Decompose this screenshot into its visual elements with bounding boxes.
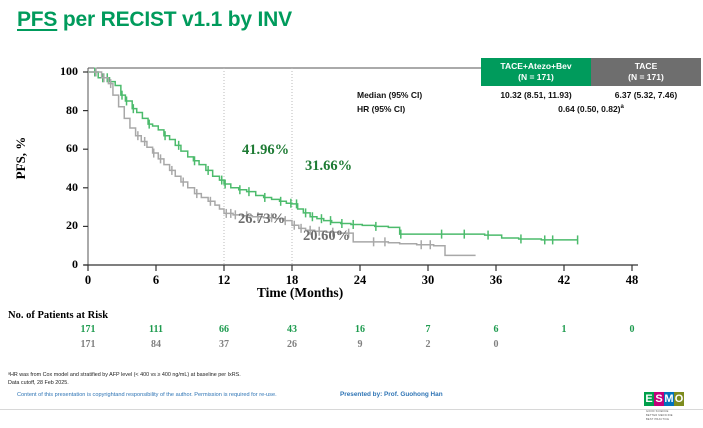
risk-table-title: No. of Patients at Risk [8,310,108,321]
risk-count: 43 [272,324,312,335]
stats-row-hr: HR (95% CI) 0.64 (0.50, 0.82)a [357,104,701,114]
stats-header-treatment-n: (N = 171) [481,72,591,83]
curve-annotation: 20.60% [303,228,350,245]
risk-table-row-treatment: 1711116643167610 [0,324,703,338]
risk-count: 171 [68,339,108,350]
esmo-logo-letter: E [644,392,654,406]
risk-table-row-control: 171843726920 [0,339,703,353]
curve-annotation: 31.66% [305,158,352,175]
esmo-logo-letter: M [664,392,674,406]
x-axis-tick-label: 18 [272,273,312,288]
x-axis-tick-label: 42 [544,273,584,288]
stats-row-median-treatment: 10.32 (8.51, 11.93) [481,90,591,100]
footnote-line-1: ᵃHR was from Cox model and stratified by… [8,371,241,379]
esmo-logo-letters: ESMO [644,392,684,409]
risk-count: 7 [408,324,448,335]
stats-header-treatment: TACE+Atezo+Bev (N = 171) [481,58,591,86]
risk-count: 37 [204,339,244,350]
x-axis-tick-label: 48 [612,273,652,288]
y-axis-tick-label: 40 [44,180,78,195]
stats-row-hr-value: 0.64 (0.50, 0.82)a [481,104,701,114]
risk-count: 66 [204,324,244,335]
stats-table-header: TACE+Atezo+Bev (N = 171) TACE (N = 171) [357,58,701,86]
slide: PFS per RECIST v1.1 by INV PFS, % Time (… [0,0,703,423]
curve-annotation: 26.73% [238,211,285,228]
stats-row-median: Median (95% CI) 10.32 (8.51, 11.93) 6.37… [357,90,701,100]
x-axis-tick-label: 12 [204,273,244,288]
y-axis-tick-label: 20 [44,218,78,233]
esmo-logo-tagline: GOOD SCIENCEBETTER MEDICINEBEST PRACTICE [646,410,673,423]
summary-stats-table: TACE+Atezo+Bev (N = 171) TACE (N = 171) … [357,58,701,114]
risk-count: 84 [136,339,176,350]
risk-count: 0 [476,339,516,350]
y-axis-tick-label: 100 [44,64,78,79]
esmo-logo-letter: O [674,392,684,406]
footnote-line-2: Data cutoff, 28 Feb 2025. [8,379,241,387]
risk-count: 0 [612,324,652,335]
risk-count: 16 [340,324,380,335]
risk-count: 1 [544,324,584,335]
risk-count: 111 [136,324,176,335]
stats-header-control: TACE (N = 171) [591,58,701,86]
footnote: ᵃHR was from Cox model and stratified by… [8,371,241,387]
risk-count: 6 [476,324,516,335]
x-axis-tick-label: 30 [408,273,448,288]
risk-count: 2 [408,339,448,350]
risk-count: 9 [340,339,380,350]
y-axis-tick-label: 60 [44,141,78,156]
risk-count: 171 [68,324,108,335]
presenter-credit: Presented by: Prof. Guohong Han [340,391,443,398]
x-axis-tick-label: 24 [340,273,380,288]
x-axis-tick-label: 0 [68,273,108,288]
stats-row-median-control: 6.37 (5.32, 7.46) [591,90,701,100]
footer-divider [0,409,703,410]
stats-header-control-name: TACE [591,61,701,72]
curve-annotation: 41.96% [242,142,289,159]
risk-count: 26 [272,339,312,350]
copyright-notice: Content of this presentation is copyrigh… [17,392,277,398]
x-axis-tick-label: 6 [136,273,176,288]
stats-header-control-n: (N = 171) [591,72,701,83]
stats-row-median-label: Median (95% CI) [357,90,481,100]
y-axis-tick-label: 0 [44,257,78,272]
esmo-logo-letter: S [654,392,664,406]
stats-row-hr-label: HR (95% CI) [357,104,481,114]
x-axis-tick-label: 36 [476,273,516,288]
y-axis-label: PFS, % [13,128,29,188]
hr-footnote-marker: a [621,104,624,110]
hr-value-text: 0.64 (0.50, 0.82) [558,104,620,114]
stats-header-treatment-name: TACE+Atezo+Bev [481,61,591,72]
esmo-tagline-line: BEST PRACTICE [646,418,673,422]
y-axis-tick-label: 80 [44,103,78,118]
